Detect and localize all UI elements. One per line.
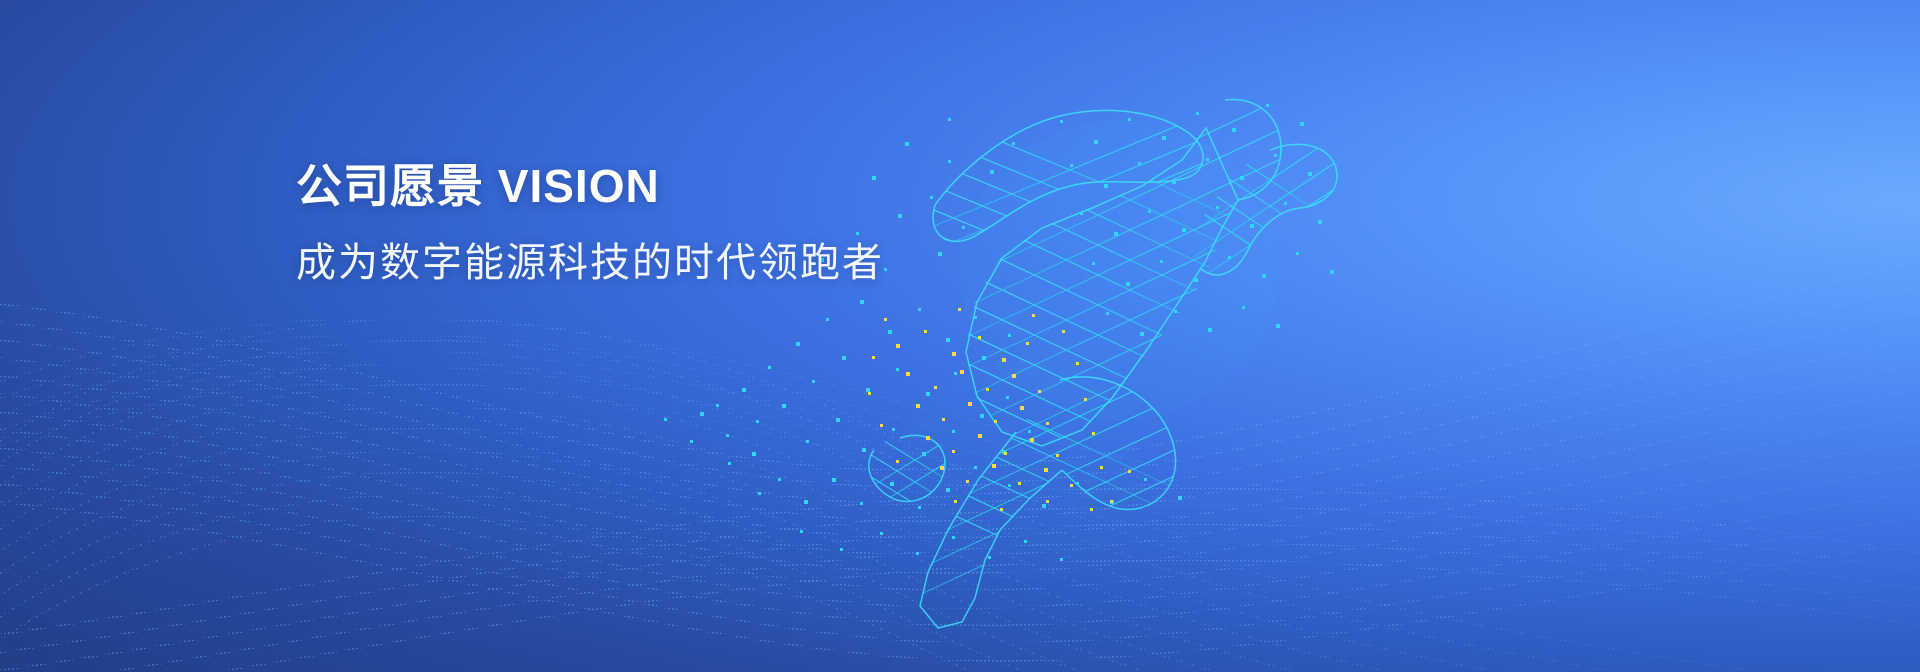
- vision-text-block: 公司愿景 VISION 成为数字能源科技的时代领跑者: [296, 160, 884, 287]
- vision-banner: 公司愿景 VISION 成为数字能源科技的时代领跑者: [0, 0, 1920, 672]
- page-title: 公司愿景 VISION: [296, 160, 884, 213]
- dispersing-particles: [0, 0, 1920, 672]
- page-subtitle: 成为数字能源科技的时代领跑者: [296, 213, 884, 287]
- flowing-wave-lines: [0, 0, 1920, 672]
- running-figure-wireframe: [0, 0, 1920, 672]
